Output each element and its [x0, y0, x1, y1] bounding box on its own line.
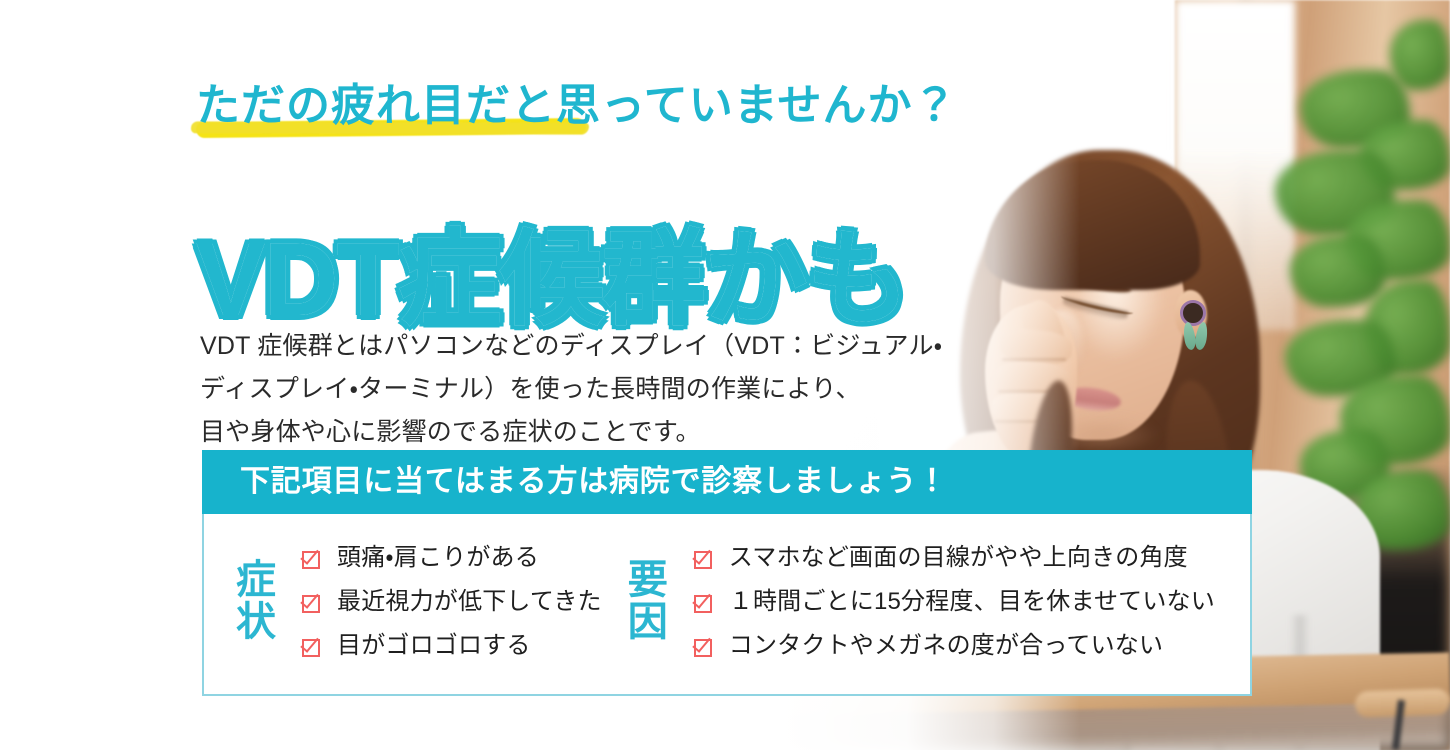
- kicker-text: ただの疲れ目だと思っていませんか？: [196, 84, 957, 128]
- symptoms-label-char-2: 状: [232, 602, 280, 643]
- page-title: VDT症候群かも: [196, 228, 908, 332]
- list-item-label: コンタクトやメガネの度が合っていない: [729, 634, 1163, 658]
- symptoms-column-label: 症 状: [232, 560, 280, 642]
- symptoms-list: 頭痛・肩こりがある 最近視力が低下してきた 目がゴロ: [302, 536, 602, 668]
- checklist-panel-heading: 下記項目に当てはまる方は病院で診察しましょう！: [202, 450, 1252, 514]
- causes-label-char-2: 因: [624, 602, 672, 643]
- causes-column: 要 因 スマホなど画面の目線がやや上向きの角度: [602, 536, 1215, 668]
- list-item: スマホなど画面の目線がやや上向きの角度: [694, 536, 1215, 580]
- checkbox-checked-icon: [694, 636, 716, 658]
- checkbox-checked-icon: [302, 636, 324, 658]
- lead-line-1: VDT 症候群とはパソコンなどのディスプレイ（VDT：ビジュアル・: [200, 325, 1060, 368]
- checkbox-checked-icon: [302, 592, 324, 614]
- list-item: 頭痛・肩こりがある: [302, 536, 602, 580]
- list-item-label: 頭痛・肩こりがある: [337, 546, 539, 570]
- list-item: 最近視力が低下してきた: [302, 580, 602, 624]
- list-item: １時間ごとに15分程度、目を休ませていない: [694, 580, 1215, 624]
- checkbox-checked-icon: [302, 548, 324, 570]
- banner-content: ただの疲れ目だと思っていませんか？ VDT症候群かも VDT 症候群とはパソコン…: [0, 0, 1450, 750]
- lead-paragraph: VDT 症候群とはパソコンなどのディスプレイ（VDT：ビジュアル・ ディスプレイ…: [200, 325, 1060, 454]
- checklist-panel: 下記項目に当てはまる方は病院で診察しましょう！ 症 状 頭痛・肩こりがある: [202, 450, 1252, 696]
- lead-line-3: 目や身体や心に影響のでる症状のことです。: [200, 411, 1060, 454]
- symptoms-label-char-1: 症: [232, 560, 280, 601]
- causes-column-label: 要 因: [624, 560, 672, 642]
- causes-label-char-1: 要: [624, 560, 672, 601]
- list-item-label: スマホなど画面の目線がやや上向きの角度: [729, 546, 1188, 570]
- checkbox-checked-icon: [694, 548, 716, 570]
- kicker-wrapper: ただの疲れ目だと思っていませんか？: [196, 84, 957, 128]
- checklist-panel-body: 症 状 頭痛・肩こりがある: [204, 514, 1250, 694]
- causes-list: スマホなど画面の目線がやや上向きの角度 １時間ごとに15分程度、目を休ませていな…: [694, 536, 1215, 668]
- lead-line-2: ディスプレイ・ターミナル）を使った長時間の作業により、: [200, 368, 1060, 411]
- list-item-label: １時間ごとに15分程度、目を休ませていない: [729, 590, 1215, 614]
- list-item-label: 最近視力が低下してきた: [337, 590, 602, 614]
- list-item: 目がゴロゴロする: [302, 624, 602, 668]
- list-item: コンタクトやメガネの度が合っていない: [694, 624, 1215, 668]
- symptoms-column: 症 状 頭痛・肩こりがある: [204, 536, 602, 668]
- checkbox-checked-icon: [694, 592, 716, 614]
- list-item-label: 目がゴロゴロする: [337, 634, 531, 658]
- vdt-syndrome-banner: ただの疲れ目だと思っていませんか？ VDT症候群かも VDT 症候群とはパソコン…: [0, 0, 1450, 750]
